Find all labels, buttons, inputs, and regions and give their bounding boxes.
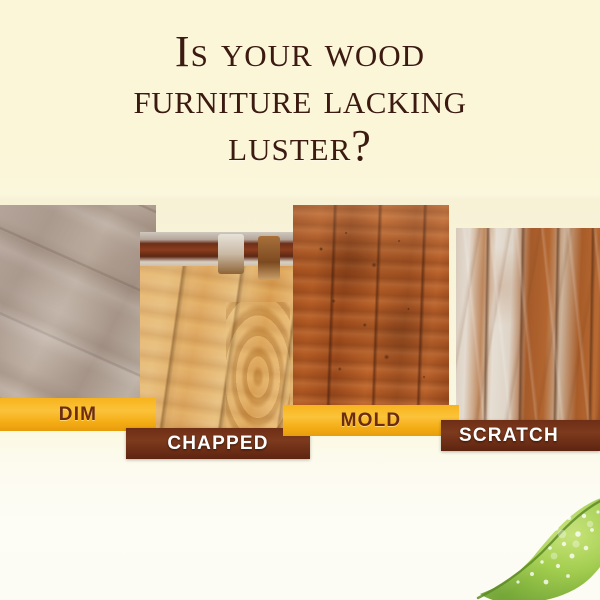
panel-image-chapped: [140, 232, 296, 458]
banner-label-mold: MOLD: [283, 405, 459, 436]
panel-image-mold: [293, 205, 449, 405]
panel-image-scratch: [456, 228, 600, 423]
furniture-leg-right: [258, 236, 280, 280]
banner-label-scratch: SCRATCH: [441, 420, 600, 451]
wood-floor-photo-scratch: [456, 228, 600, 423]
wood-floor-photo-mold: [293, 205, 449, 405]
headline-line-1: Is your wood: [0, 28, 600, 75]
green-leaf-icon: [472, 482, 600, 600]
wood-floor-photo-dim: [0, 205, 156, 400]
headline-line-2: furniture lacking: [0, 75, 600, 122]
wood-floor-photo-chapped: [140, 232, 296, 458]
headline-line-3: luster?: [0, 122, 600, 169]
furniture-leg-left: [218, 234, 244, 274]
panel-image-dim: [0, 205, 156, 400]
page-title: Is your wood furniture lacking luster?: [0, 28, 600, 169]
banner-label-dim: DIM: [0, 398, 156, 431]
poster-canvas: Is your wood furniture lacking luster? D…: [0, 0, 600, 600]
